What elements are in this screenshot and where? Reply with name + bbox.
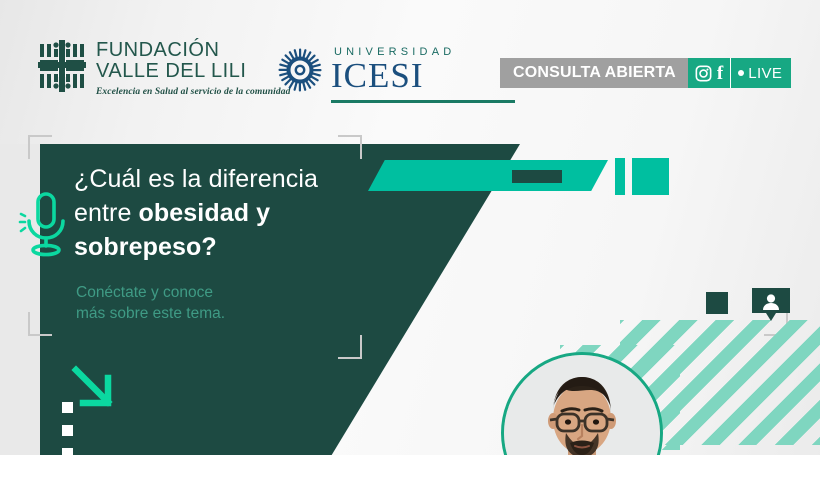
facebook-icon[interactable]: f [717,64,723,83]
fundacion-name-line1: FUNDACIÓN [96,40,290,61]
live-indicator: LIVE [731,58,791,88]
accent-square-wide [632,158,669,195]
accent-bar [368,160,608,191]
hero-section: ¿Cuál es la diferencia entre obesidad y … [0,130,820,480]
valle-del-lili-cross-mark-icon [38,40,86,92]
fundacion-valle-del-lili-logo: FUNDACIÓN VALLE DEL LILI Excelencia en S… [38,40,290,97]
fundacion-name-line2: VALLE DEL LILI [96,61,290,82]
accent-bar-dark-overlay [512,170,562,183]
person-pin-icon [752,288,790,324]
microphone-icon [18,188,74,264]
headline: ¿Cuál es la diferencia entre obesidad y … [74,162,374,264]
subline-line1: Conéctate y conoce [76,282,336,303]
instagram-icon[interactable] [695,65,712,82]
decorative-dark-square [706,292,728,314]
consulta-abierta-label: CONSULTA ABIERTA [500,58,688,88]
fundacion-tagline: Excelencia en Salud al servicio de la co… [96,87,290,97]
corner-bracket-bottom-right [338,335,362,359]
social-icons-group[interactable]: f [688,58,730,88]
icesi-underline [331,100,515,103]
universidad-icesi-logo: UNIVERSIDAD ICESI [278,46,455,93]
banner-divider [730,58,731,88]
live-label: LIVE [748,65,782,82]
header-bar: FUNDACIÓN VALLE DEL LILI Excelencia en S… [0,0,820,130]
dot-square [62,425,73,436]
corner-bracket-top-right [338,135,362,159]
corner-bracket-top-left [28,135,52,159]
dot-square [62,402,73,413]
consulta-abierta-banner: CONSULTA ABIERTA f LIVE [500,58,791,88]
corner-bracket-bottom-left [28,312,52,336]
icesi-sunburst-mark-icon [278,48,322,92]
subline-line2: más sobre este tema. [76,303,336,324]
accent-square-narrow [615,158,625,195]
subline: Conéctate y conoce más sobre este tema. [76,282,336,324]
live-dot-icon [738,70,744,76]
arrow-down-right-icon [68,362,120,414]
icesi-name-line2: ICESI [331,58,455,93]
broadcast-graphic: FUNDACIÓN VALLE DEL LILI Excelencia en S… [0,0,820,480]
bottom-white-strip [0,455,820,480]
